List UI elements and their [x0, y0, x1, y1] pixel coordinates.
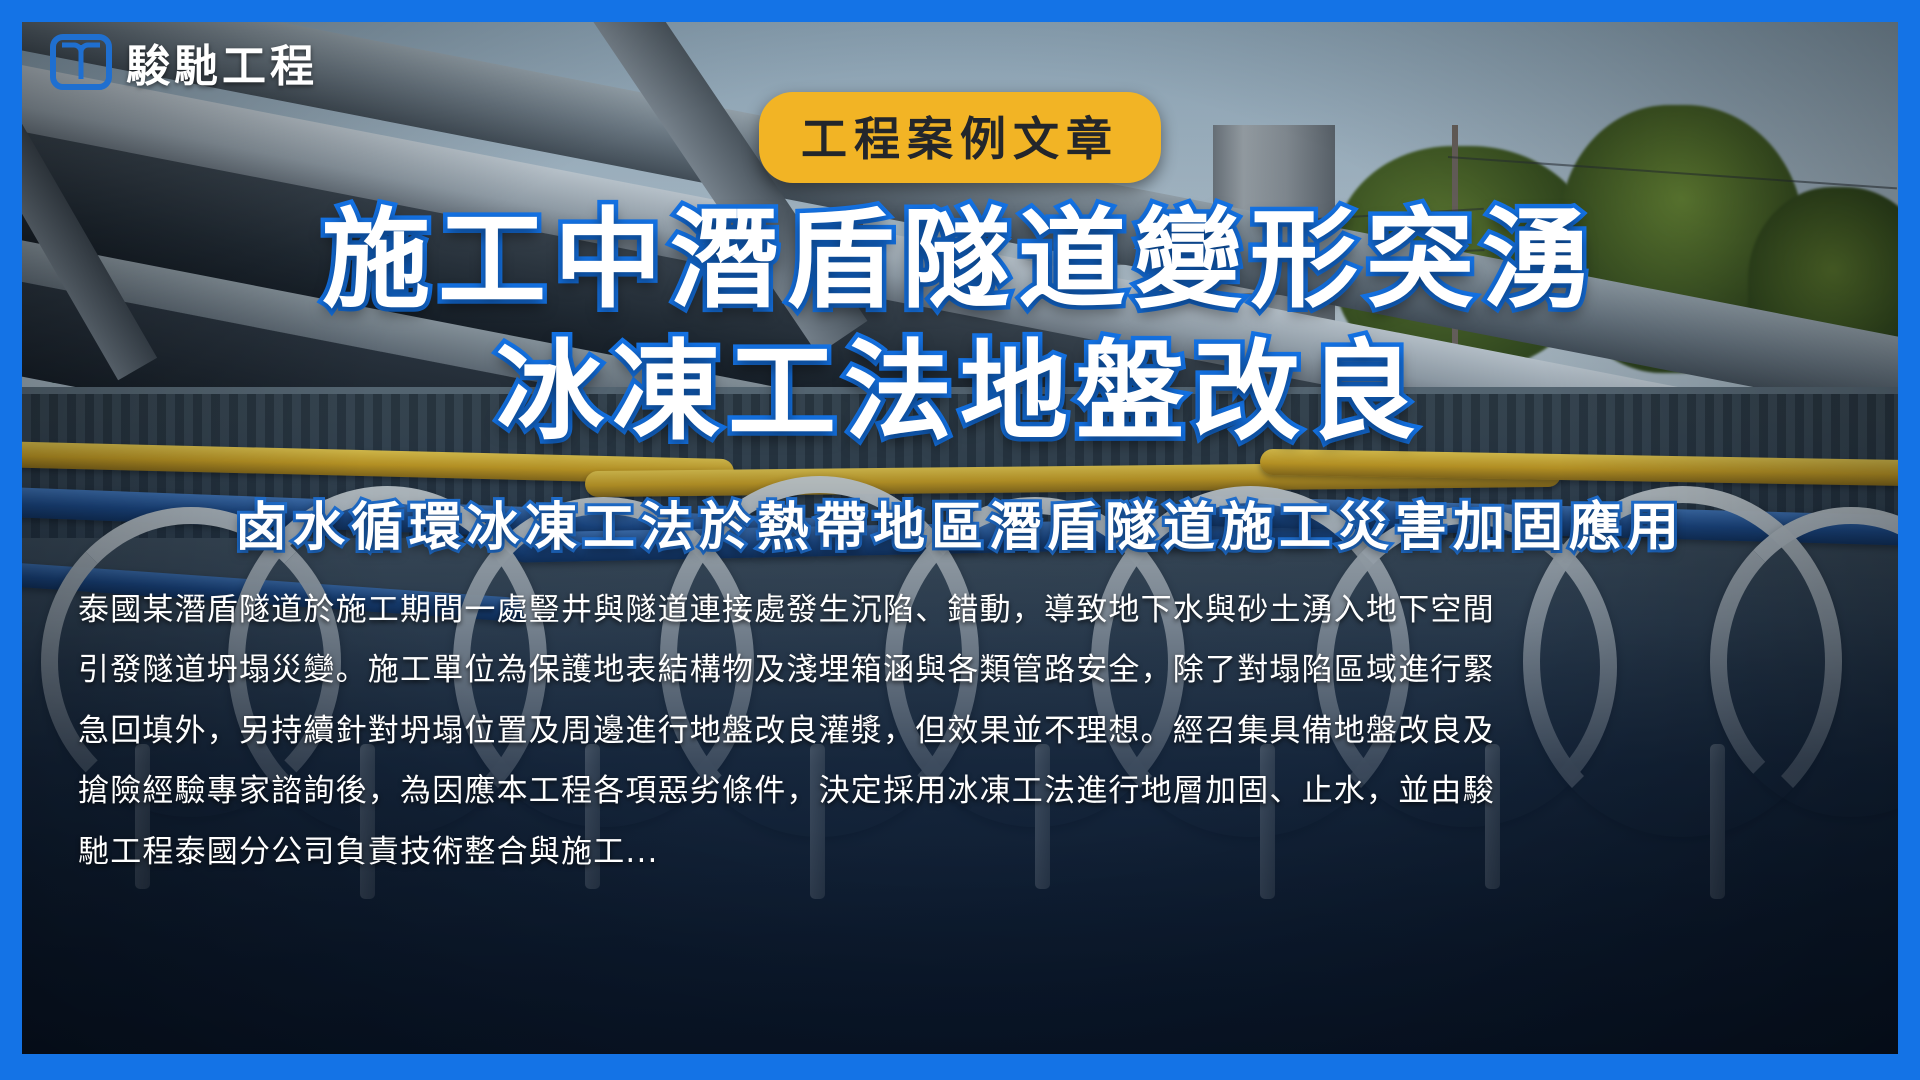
- brand-name: 駿馳工程: [126, 30, 318, 94]
- excerpt-line: 泰國某潛盾隧道於施工期間一處豎井與隧道連接處發生沉陷、錯動，導致地下水與砂土湧入…: [78, 580, 1842, 640]
- article-type-badge: 工程案例文章: [759, 92, 1161, 183]
- title-line-2: 冰凍工法地盤改良: [0, 327, 1920, 459]
- brand-logo[interactable]: 駿馳工程: [50, 30, 318, 94]
- poster-content: 駿馳工程 工程案例文章 施工中潛盾隧道變形突湧 冰凍工法地盤改良 卤水循環冰凍工…: [0, 0, 1920, 1080]
- title-line-1: 施工中潛盾隧道變形突湧: [0, 195, 1920, 327]
- poster-canvas: 駿馳工程 工程案例文章 施工中潛盾隧道變形突湧 冰凍工法地盤改良 卤水循環冰凍工…: [0, 0, 1920, 1080]
- excerpt-line: 搶險經驗專家諮詢後，為因應本工程各項惡劣條件，決定採用冰凍工法進行地層加固、止水…: [78, 761, 1842, 821]
- article-excerpt: 泰國某潛盾隧道於施工期間一處豎井與隧道連接處發生沉陷、錯動，導致地下水與砂土湧入…: [78, 580, 1842, 882]
- excerpt-line: 急回填外，另持續針對坍塌位置及周邊進行地盤改良灌漿，但效果並不理想。經召集具備地…: [78, 701, 1842, 761]
- excerpt-line: 引發隧道坍塌災變。施工單位為保護地表結構物及淺埋箱涵與各類管路安全，除了對塌陷區…: [78, 640, 1842, 700]
- page-subtitle: 卤水循環冰凍工法於熱帶地區潛盾隧道施工災害加固應用: [0, 485, 1920, 560]
- book-logo-icon: [50, 31, 112, 93]
- excerpt-line: 馳工程泰國分公司負責技術整合與施工...: [78, 822, 1842, 882]
- page-title: 施工中潛盾隧道變形突湧 冰凍工法地盤改良: [0, 195, 1920, 459]
